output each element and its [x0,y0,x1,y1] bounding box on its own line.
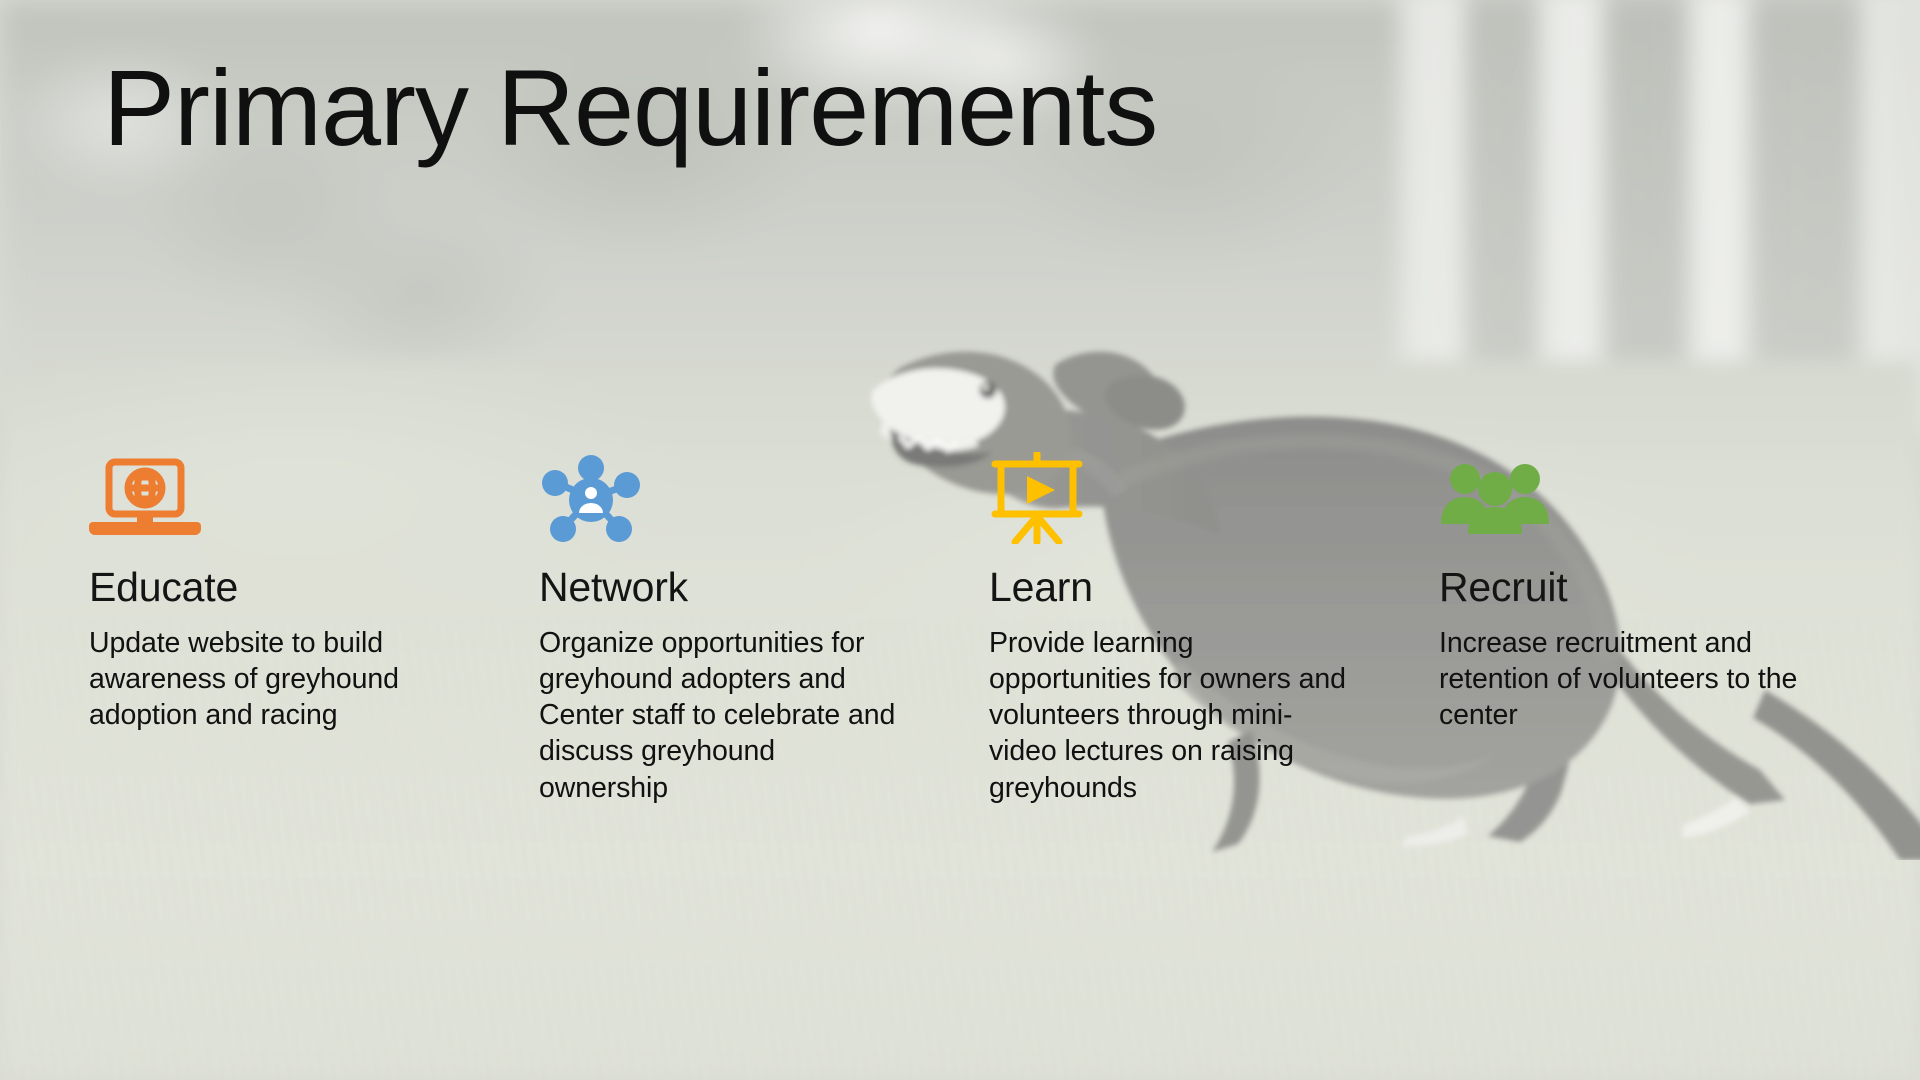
requirement-column-educate: Educate Update website to build awarenes… [89,455,457,806]
column-heading: Network [539,565,907,611]
people-group-icon [1439,455,1807,541]
column-heading: Learn [989,565,1357,611]
slide-content: Primary Requirements [0,0,1920,1080]
slide-title: Primary Requirements [103,48,1157,169]
column-body: Provide learning opportunities for owner… [989,625,1357,806]
column-heading: Recruit [1439,565,1807,611]
column-body: Organize opportunities for greyhound ado… [539,625,907,806]
column-heading: Educate [89,565,457,611]
requirement-column-learn: Learn Provide learning opportunities for… [989,455,1357,806]
presentation-play-icon [989,455,1357,541]
requirement-column-network: Network Organize opportunities for greyh… [539,455,907,806]
network-hub-person-icon [539,455,907,541]
requirements-columns: Educate Update website to build awarenes… [89,455,1879,806]
laptop-globe-icon [89,455,457,541]
slide: Primary Requirements [0,0,1920,1080]
requirement-column-recruit: Recruit Increase recruitment and retenti… [1439,455,1807,806]
column-body: Update website to build awareness of gre… [89,625,457,734]
column-body: Increase recruitment and retention of vo… [1439,625,1807,734]
